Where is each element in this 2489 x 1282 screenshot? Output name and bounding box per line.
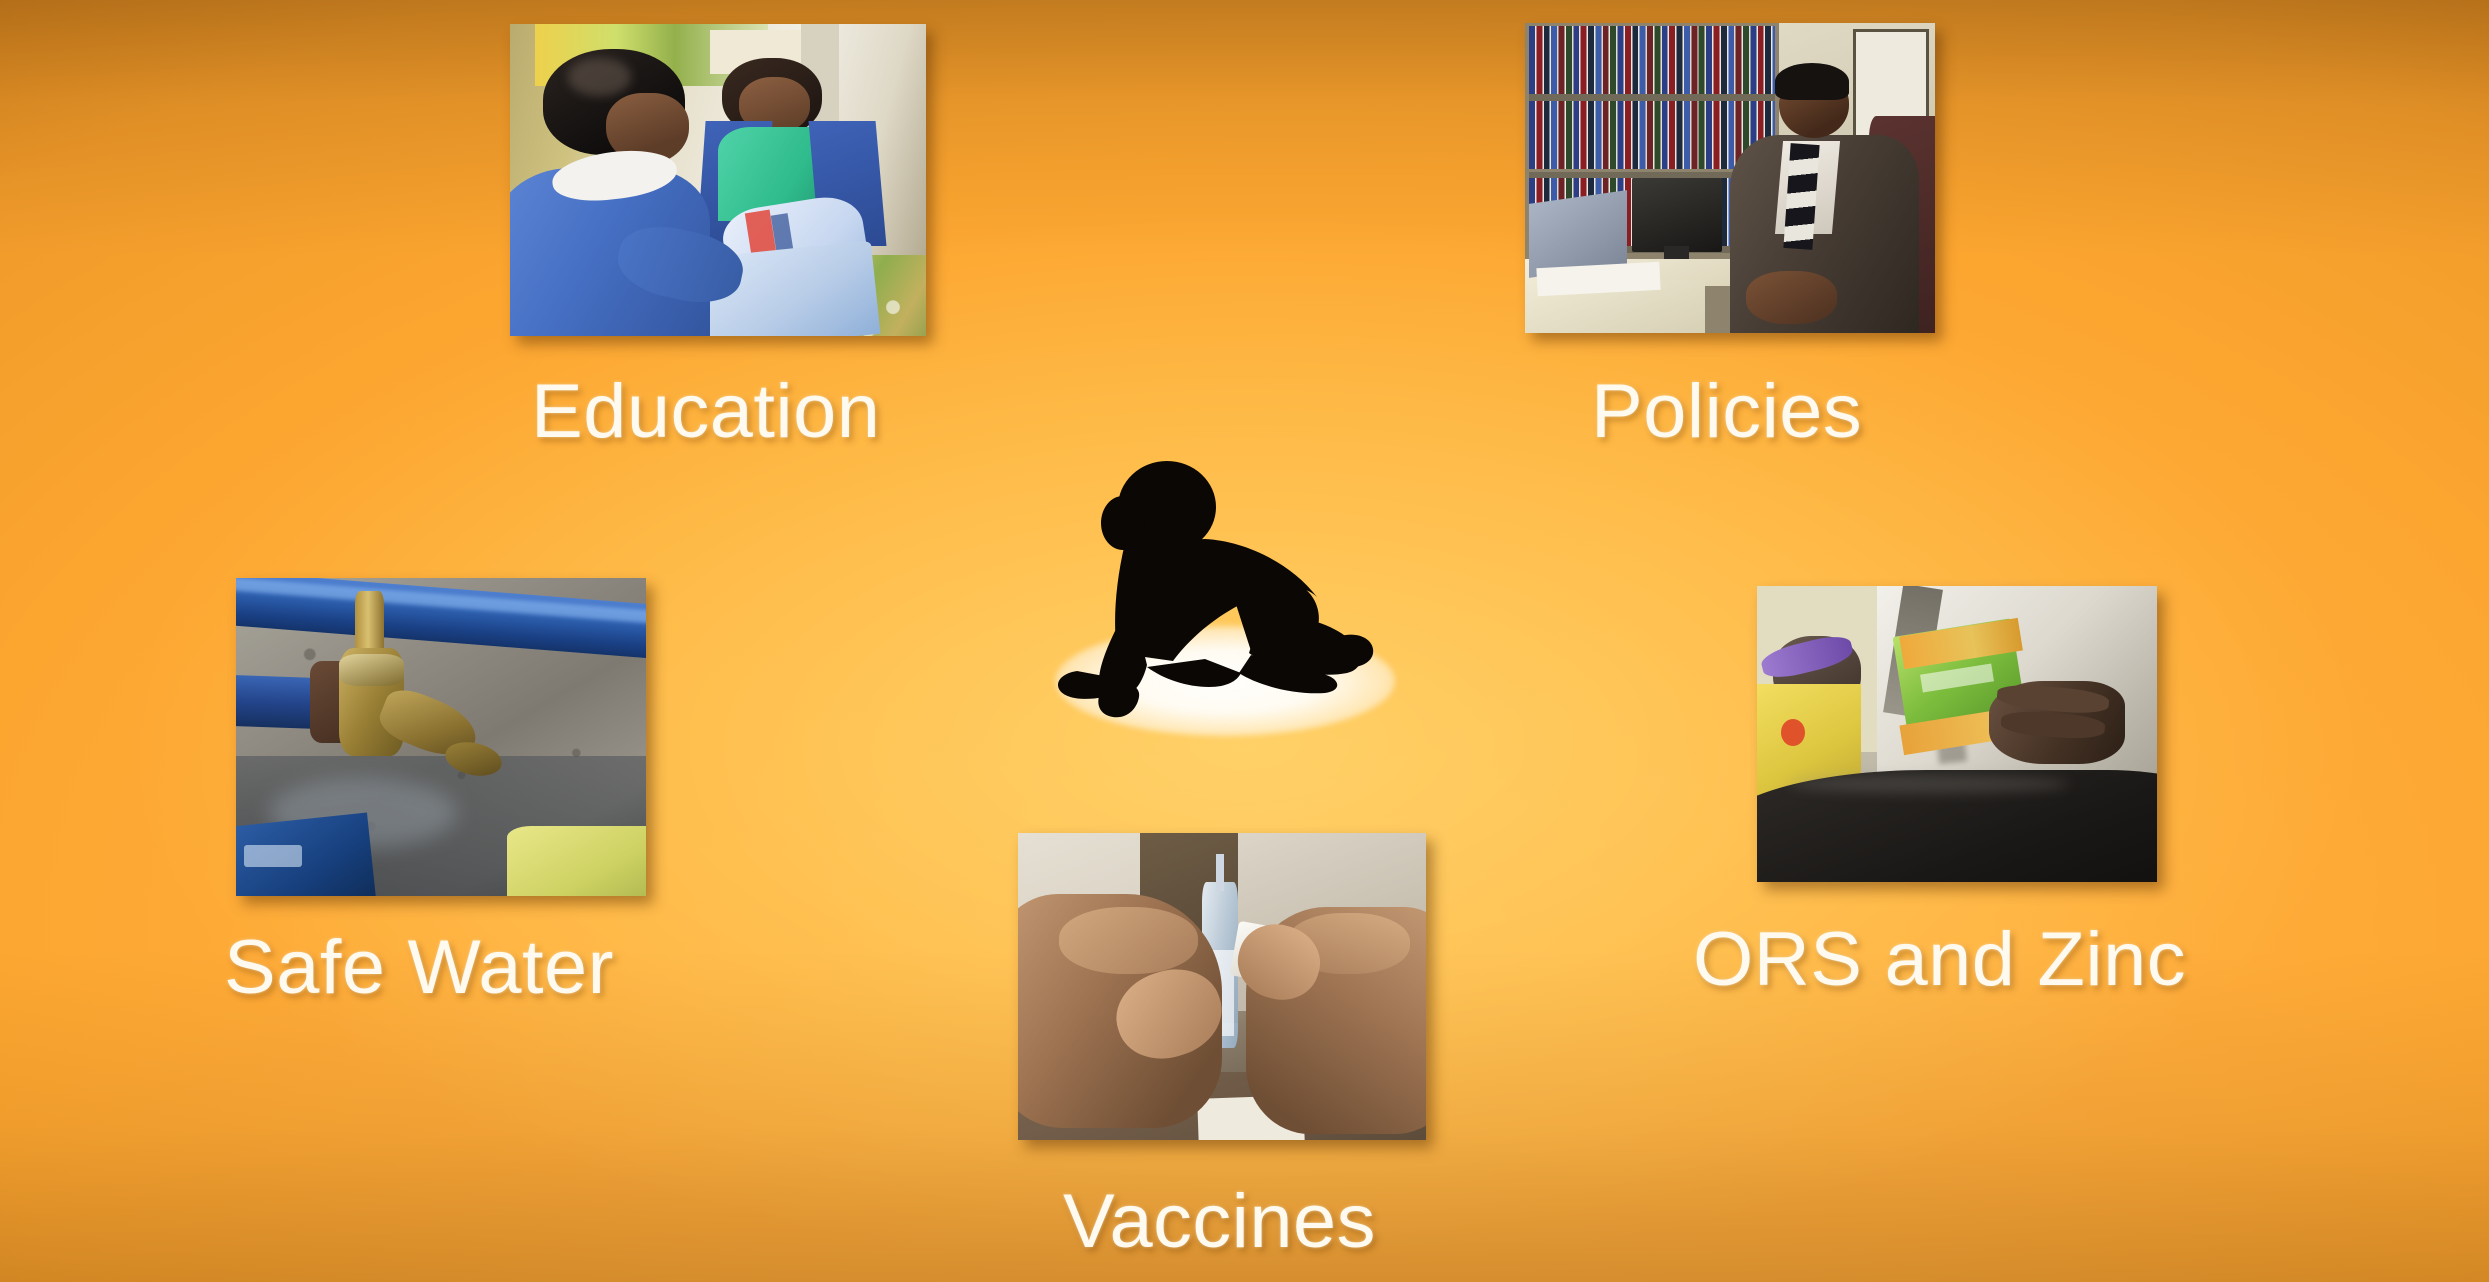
- safe-water-image-card[interactable]: [236, 578, 646, 896]
- education-label: Education: [531, 368, 880, 455]
- ors-and-zinc-label: ORS and Zinc: [1693, 916, 2186, 1003]
- safe-water-photo: [236, 578, 646, 896]
- center-baby-figure: [1055, 455, 1395, 730]
- vaccines-label: Vaccines: [1063, 1178, 1376, 1265]
- crawling-baby-silhouette-icon: [1055, 455, 1395, 730]
- slide-canvas: Education Policies: [0, 0, 2489, 1282]
- ors-and-zinc-image-card[interactable]: [1757, 586, 2157, 882]
- vaccines-photo: [1018, 833, 1426, 1140]
- safe-water-label: Safe Water: [224, 924, 614, 1011]
- vaccines-image-card[interactable]: [1018, 833, 1426, 1140]
- education-photo: [510, 24, 926, 336]
- policies-label: Policies: [1591, 368, 1862, 455]
- policies-photo: [1525, 23, 1935, 333]
- ors-and-zinc-photo: [1757, 586, 2157, 882]
- education-image-card[interactable]: [510, 24, 926, 336]
- policies-image-card[interactable]: [1525, 23, 1935, 333]
